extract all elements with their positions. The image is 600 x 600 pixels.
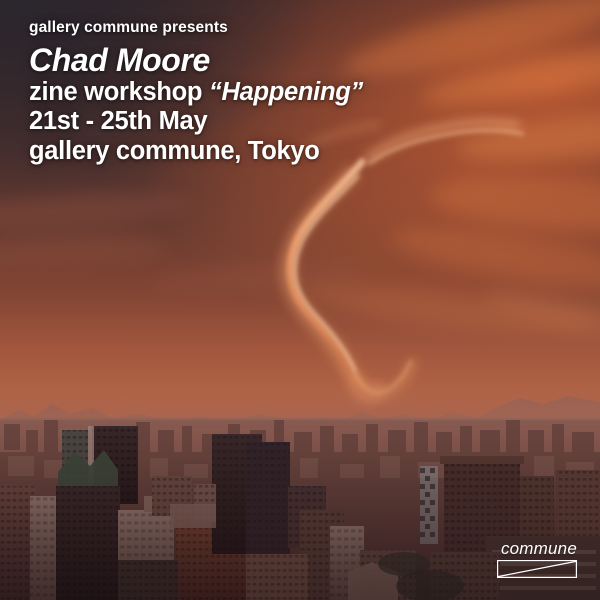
- poster-canvas: gallery commune presents Chad Moore zine…: [0, 0, 600, 600]
- wedge-underline-icon: [497, 560, 577, 578]
- workshop-prefix: zine workshop: [29, 78, 209, 106]
- workshop-title: “Happening”: [209, 78, 363, 106]
- venue-line: gallery commune, Tokyo: [29, 139, 363, 165]
- commune-logo[interactable]: commune: [497, 540, 577, 578]
- dates-line: 21st - 25th May: [29, 109, 363, 135]
- presents-line: gallery commune presents: [29, 20, 363, 36]
- workshop-line: zine workshop “Happening”: [29, 80, 363, 106]
- commune-logo-wordmark: commune: [497, 540, 577, 557]
- artist-name: Chad Moore: [29, 44, 363, 76]
- poster-copy-block: gallery commune presents Chad Moore zine…: [29, 20, 363, 164]
